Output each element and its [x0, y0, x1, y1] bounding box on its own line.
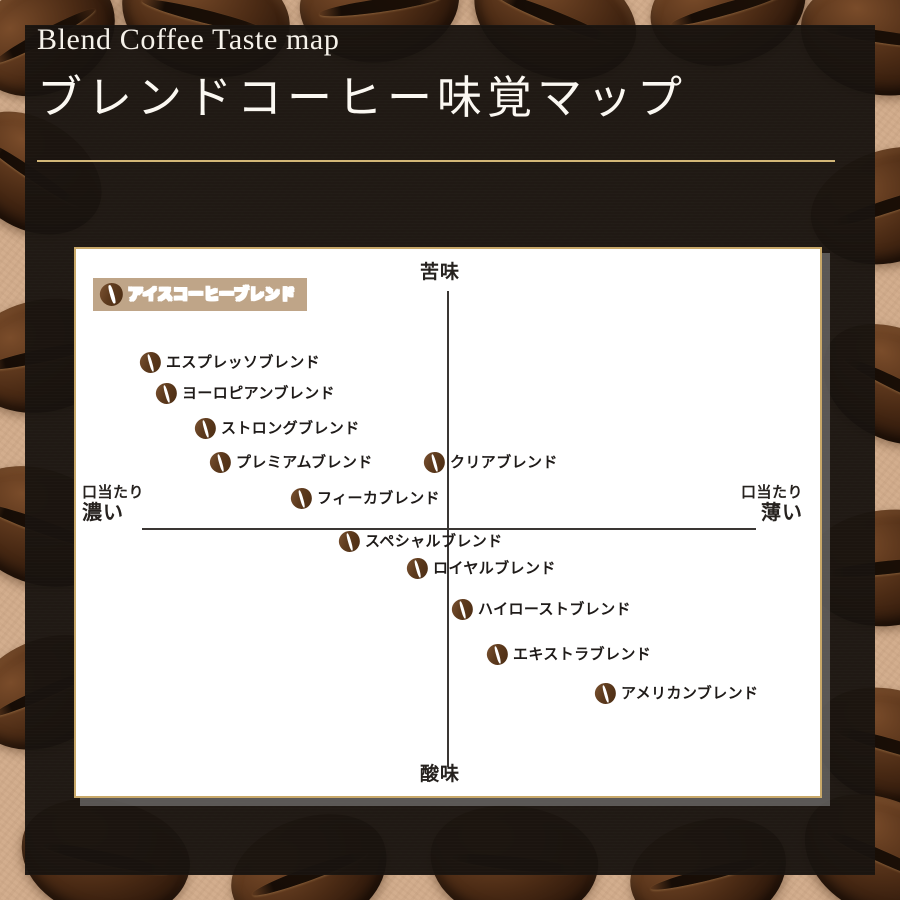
blend-point[interactable]: アイスコーヒーブレンド: [93, 278, 307, 311]
blend-label: アメリカンブレンド: [621, 686, 758, 701]
coffee-bean-icon: [97, 280, 127, 310]
poster-header: Blend Coffee Taste map ブレンドコーヒー味覚マップ: [37, 25, 837, 121]
coffee-bean-icon: [449, 596, 476, 623]
blend-label: エキストラブレンド: [513, 647, 651, 662]
title-english: Blend Coffee Taste map: [37, 25, 837, 55]
axis-caption-right-light: 薄い: [741, 501, 803, 523]
coffee-bean-icon: [484, 641, 511, 668]
blend-point[interactable]: クリアブレンド: [424, 452, 558, 473]
blend-point[interactable]: ストロングブレンド: [195, 418, 360, 439]
axis-caption-left: 口当たり 濃い: [82, 484, 144, 523]
coffee-bean-icon: [207, 449, 234, 476]
blend-label: ハイローストブレンド: [478, 602, 631, 617]
blend-point[interactable]: スペシャルブレンド: [339, 531, 503, 552]
gold-divider-rule: [37, 160, 835, 162]
chart-plot-area: 苦味 酸味 口当たり 濃い 口当たり 薄い アイスコーヒーブレンドエスプレッソブ…: [76, 249, 820, 796]
blend-point[interactable]: ハイローストブレンド: [452, 599, 631, 620]
blend-label: ストロングブレンド: [221, 421, 360, 436]
coffee-bean-icon: [137, 349, 164, 376]
blend-label: ヨーロピアンブレンド: [182, 386, 335, 401]
taste-map-chart: 苦味 酸味 口当たり 濃い 口当たり 薄い アイスコーヒーブレンドエスプレッソブ…: [74, 247, 822, 798]
axis-caption-right: 口当たり 薄い: [741, 484, 803, 523]
coffee-bean-icon: [404, 555, 431, 582]
coffee-bean-icon: [288, 485, 315, 512]
blend-label: プレミアムブレンド: [236, 455, 373, 470]
blend-point[interactable]: エスプレッソブレンド: [140, 352, 320, 373]
coffee-bean-icon: [153, 380, 180, 407]
blend-point[interactable]: アメリカンブレンド: [595, 683, 758, 704]
blend-point[interactable]: ヨーロピアンブレンド: [156, 383, 335, 404]
axis-caption-left-mouthfeel: 口当たり: [82, 484, 144, 501]
blend-label: クリアブレンド: [450, 455, 558, 470]
blend-label: アイスコーヒーブレンド: [128, 287, 295, 302]
blend-label: ロイヤルブレンド: [433, 561, 556, 576]
coffee-bean-icon: [192, 415, 219, 442]
blend-label: スペシャルブレンド: [365, 534, 503, 549]
axis-caption-right-mouthfeel: 口当たり: [741, 484, 803, 501]
axis-caption-bottom-acidity: 酸味: [420, 759, 460, 786]
axis-caption-top-bitterness: 苦味: [420, 257, 460, 284]
poster-canvas: Blend Coffee Taste map ブレンドコーヒー味覚マップ 苦味 …: [0, 0, 900, 900]
axis-horizontal: [142, 528, 756, 530]
blend-point[interactable]: ロイヤルブレンド: [407, 558, 556, 579]
blend-point[interactable]: フィーカブレンド: [291, 488, 440, 509]
blend-point[interactable]: エキストラブレンド: [487, 644, 651, 665]
coffee-bean-icon: [421, 449, 448, 476]
blend-point[interactable]: プレミアムブレンド: [210, 452, 373, 473]
coffee-bean-icon: [336, 528, 363, 555]
blend-label: フィーカブレンド: [317, 491, 440, 506]
title-japanese: ブレンドコーヒー味覚マップ: [37, 74, 837, 121]
blend-label: エスプレッソブレンド: [166, 355, 320, 370]
coffee-bean-icon: [592, 680, 619, 707]
axis-caption-left-strong: 濃い: [82, 501, 144, 523]
